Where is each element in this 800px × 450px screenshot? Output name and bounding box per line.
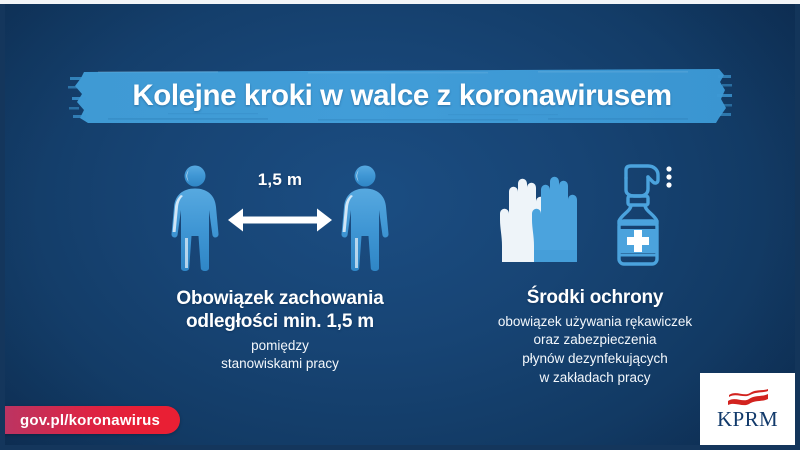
gloves-and-disinfectant-icon	[445, 160, 745, 275]
top-edge-strip	[0, 0, 800, 4]
right-edge-strip	[795, 0, 800, 450]
protection-subline-line1: obowiązek używania rękawiczek	[445, 313, 745, 332]
url-text: gov.pl/koronawirus	[20, 412, 160, 429]
protection-graphic	[490, 162, 700, 274]
distance-headline-line1: Obowiązek zachowania	[110, 287, 450, 310]
left-edge-strip	[0, 0, 5, 450]
kprm-wordmark: KPRM	[717, 409, 778, 430]
disinfectant-spray-icon	[619, 166, 672, 264]
social-distance-icon	[110, 160, 450, 275]
person-left-icon	[171, 165, 218, 271]
protection-subline-line3: płynów dezynfekujących	[445, 350, 745, 369]
kprm-logo: KPRM	[700, 373, 795, 445]
social-distance-graphic	[165, 162, 395, 274]
glove-blue-icon	[532, 176, 577, 261]
protection-subline-line2: oraz zabezpieczenia	[445, 331, 745, 350]
distance-arrow-icon	[228, 208, 332, 231]
distance-headline-line2: odległości min. 1,5 m	[110, 310, 450, 333]
section-distance: 1,5 m Obowiązek zachowania odległości mi…	[110, 160, 450, 373]
polish-flag-mark-icon	[726, 388, 770, 406]
protection-headline: Środki ochrony	[445, 287, 745, 310]
person-right-icon	[341, 165, 388, 271]
koronawirus-url-badge[interactable]: gov.pl/koronawirus	[0, 406, 180, 434]
distance-subline-line2: stanowiskami pracy	[110, 355, 450, 373]
distance-subline-line1: pomiędzy	[110, 337, 450, 355]
title-banner: Kolejne kroki w walce z koronawirusem	[68, 66, 736, 126]
page-title: Kolejne kroki w walce z koronawirusem	[68, 66, 736, 126]
infographic-poster: Kolejne kroki w walce z koronawirusem	[0, 0, 800, 450]
section-protection: Środki ochrony obowiązek używania rękawi…	[445, 160, 745, 387]
bottom-edge-strip	[0, 445, 800, 450]
